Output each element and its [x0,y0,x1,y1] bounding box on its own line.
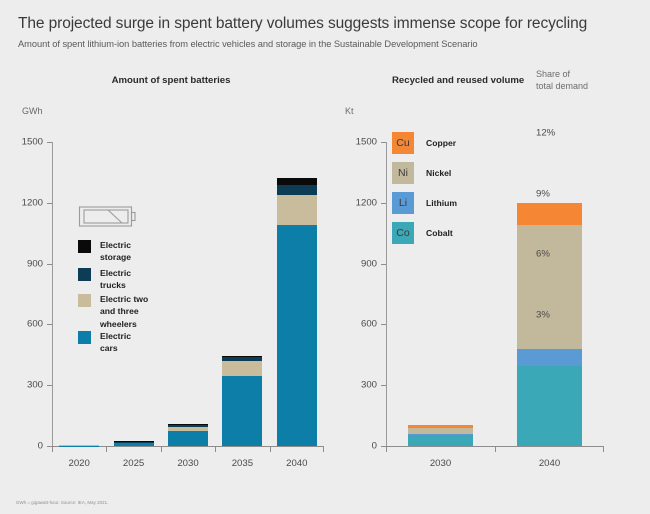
x-axis-label: 2030 [430,458,451,469]
y-axis-tick-label: 1200 [22,197,43,208]
right-chart-title: Recycled and reused volume [392,75,524,86]
bar-2040[interactable] [277,178,317,446]
legend-item-nickel[interactable]: NiNickel [392,162,451,184]
page-title: The projected surge in spent battery vol… [18,14,632,33]
share-axis-tick-label: 6% [536,249,550,260]
legend-label: Copper [426,138,456,148]
y-axis-tick [381,203,386,204]
legend-swatch [78,294,91,307]
legend-label: Lithium [426,198,457,208]
share-axis-tick-label: 3% [536,310,550,321]
legend-label: Electric two and three wheelers [100,293,162,330]
x-axis-tick [215,447,216,452]
element-symbol-li: Li [392,192,414,214]
legend-item-electric-trucks[interactable]: Electric trucks [78,268,131,292]
x-axis-tick [386,447,387,452]
x-axis-label: 2040 [539,458,560,469]
y-axis-tick-label: 900 [361,258,377,269]
y-axis-tick [381,264,386,265]
y-axis-tick [381,142,386,143]
y-axis-tick [381,324,386,325]
bar-segment-electric-two-and-three-wheelers[interactable] [222,361,262,376]
x-axis-label: 2020 [69,458,90,469]
bar-segment-electric-cars[interactable] [222,376,262,446]
y-axis-tick-label: 0 [372,441,377,452]
y-axis-tick [381,385,386,386]
x-axis-tick [495,447,496,452]
y-axis-tick [47,203,52,204]
x-axis-tick [603,447,604,452]
legend-item-cobalt[interactable]: CoCobalt [392,222,453,244]
bar-2030[interactable] [408,425,473,446]
y-axis-tick [47,324,52,325]
element-symbol-ni: Ni [392,162,414,184]
left-y-axis [52,142,53,447]
legend-swatch [78,331,91,344]
legend-item-electric-storage[interactable]: Electric storage [78,240,131,264]
y-axis-tick-label: 300 [27,380,43,391]
left-y-axis-unit: GWh [22,106,43,116]
y-axis-tick-label: 900 [27,258,43,269]
element-symbol-co: Co [392,222,414,244]
bar-segment-electric-storage[interactable] [222,356,262,357]
bar-segment-electric-storage[interactable] [168,424,208,425]
right-y-axis [386,142,387,447]
page-subtitle: Amount of spent lithium-ion batteries fr… [18,39,632,49]
y-axis-tick [47,264,52,265]
bar-segment-electric-cars[interactable] [168,431,208,446]
bar-segment-electric-cars[interactable] [114,443,154,446]
y-axis-tick-label: 1200 [356,197,377,208]
element-symbol-cu: Cu [392,132,414,154]
x-axis-tick [106,447,107,452]
left-chart-title: Amount of spent batteries [6,75,336,86]
x-axis-tick [161,447,162,452]
x-axis-tick [52,447,53,452]
share-axis-tick-label: 12% [536,127,555,138]
share-of-total-demand-axis: Share oftotal demand 3%6%9%12% [536,72,646,377]
share-axis-title-line: Share of [536,68,588,80]
legend-item-electric-two-and-three-wheelers[interactable]: Electric two and three wheelers [78,294,162,330]
bar-segment-copper[interactable] [408,425,473,428]
y-axis-tick-label: 1500 [356,137,377,148]
bar-segment-electric-two-and-three-wheelers[interactable] [277,195,317,225]
bar-segment-electric-two-and-three-wheelers[interactable] [168,427,208,431]
bar-segment-electric-two-and-three-wheelers[interactable] [114,442,154,443]
legend-item-electric-cars[interactable]: Electric cars [78,331,131,355]
bar-segment-nickel[interactable] [408,428,473,434]
bar-segment-electric-cars[interactable] [277,225,317,446]
right-y-axis-unit: Kt [345,106,354,116]
x-axis-label: 2040 [286,458,307,469]
x-axis-label: 2025 [123,458,144,469]
legend-label: Electric trucks [100,267,131,292]
footnote: GWh = gigawatt-hour. Source: IEA, May 20… [16,500,108,505]
y-axis-tick-label: 0 [38,441,43,452]
x-axis-label: 2030 [177,458,198,469]
left-x-axis [52,446,324,447]
bar-2030[interactable] [168,424,208,446]
y-axis-tick-label: 600 [361,319,377,330]
y-axis-tick [47,142,52,143]
bar-2020[interactable] [59,445,99,446]
legend-swatch [78,240,91,253]
x-axis-tick [270,447,271,452]
bar-segment-cobalt[interactable] [517,366,582,446]
x-axis-tick [323,447,324,452]
share-axis-title-line: total demand [536,80,588,92]
bar-segment-electric-trucks[interactable] [168,425,208,427]
legend-label: Electric cars [100,330,131,355]
bar-2035[interactable] [222,356,262,446]
legend-item-lithium[interactable]: LiLithium [392,192,457,214]
y-axis-tick-label: 600 [27,319,43,330]
bar-segment-lithium[interactable] [408,434,473,435]
share-axis-title: Share oftotal demand [536,68,588,92]
bar-segment-cobalt[interactable] [408,435,473,446]
y-axis-tick-label: 1500 [22,137,43,148]
bar-segment-electric-storage[interactable] [277,178,317,184]
legend-swatch [78,268,91,281]
x-axis-label: 2035 [232,458,253,469]
bar-segment-electric-trucks[interactable] [222,357,262,361]
legend-item-copper[interactable]: CuCopper [392,132,456,154]
chart-header: The projected surge in spent battery vol… [18,14,632,49]
battery-low-icon [78,204,136,230]
legend-label: Electric storage [100,239,131,264]
share-axis-tick-label: 9% [536,188,550,199]
bar-2025[interactable] [114,441,154,446]
legend-label: Nickel [426,168,451,178]
y-axis-tick-label: 300 [361,380,377,391]
bar-segment-electric-trucks[interactable] [277,185,317,195]
legend-label: Cobalt [426,228,453,238]
y-axis-tick [47,385,52,386]
